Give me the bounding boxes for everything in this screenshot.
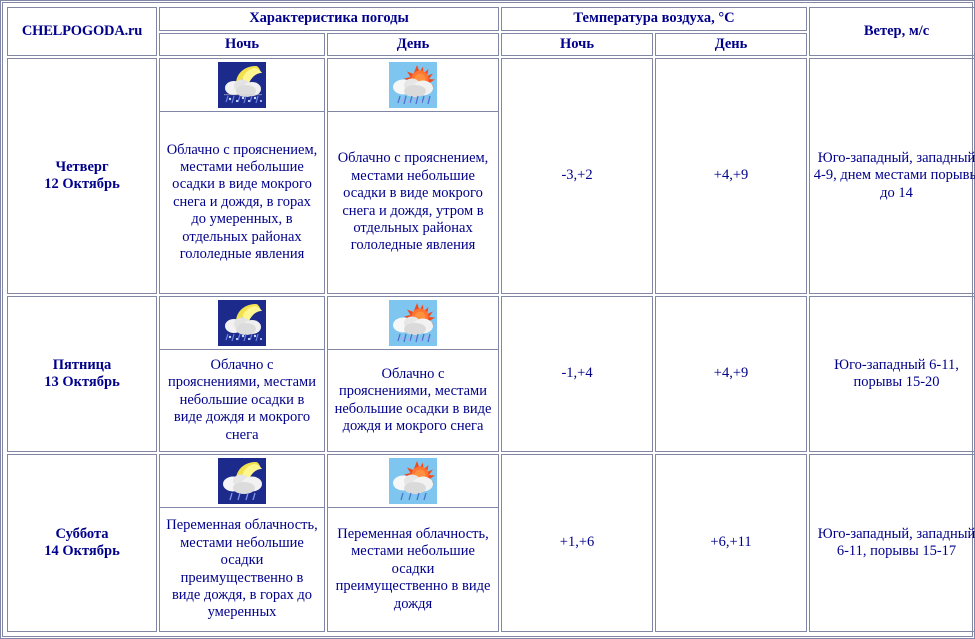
header-weather-day: День <box>327 33 499 57</box>
header-weather-night: Ночь <box>159 33 325 57</box>
header-temp-day: День <box>655 33 807 57</box>
temp-night-value: -3,+2 <box>501 58 653 294</box>
table-row: Четверг 12 Октябрь <box>7 58 975 294</box>
day-date: 12 Октябрь <box>44 176 120 192</box>
night-weather-icon-box <box>159 296 325 350</box>
day-label: Суббота 14 Октябрь <box>7 454 157 632</box>
night-cloudy-rain-icon <box>218 458 266 504</box>
day-weather-description: Облачно с прояснениями, местами небольши… <box>327 350 499 452</box>
day-name: Суббота <box>55 526 108 542</box>
night-weather-icon-box <box>159 454 325 508</box>
night-weather-cell: Облачно с прояснением, местами небольшие… <box>159 58 325 294</box>
header-wind: Ветер, м/с <box>809 7 975 56</box>
night-weather-description: Переменная облачность, местами небольшие… <box>159 508 325 632</box>
temp-day-value: +4,+9 <box>655 58 807 294</box>
day-weather-description: Облачно с прояснением, местами небольшие… <box>327 112 499 294</box>
day-sun-cloud-rain-icon <box>389 62 437 108</box>
table-row: Пятница 13 Октябрь <box>7 296 975 452</box>
table-row: Суббота 14 Октябрь <box>7 454 975 632</box>
day-weather-description: Переменная облачность, местами небольшие… <box>327 508 499 632</box>
night-weather-description: Облачно с прояснениями, местами небольши… <box>159 350 325 452</box>
day-label: Четверг 12 Октябрь <box>7 58 157 294</box>
night-weather-description: Облачно с прояснением, местами небольшие… <box>159 112 325 294</box>
header-temp-night: Ночь <box>501 33 653 57</box>
temp-night-value: +1,+6 <box>501 454 653 632</box>
day-weather-icon-box <box>327 58 499 112</box>
wind-value: Юго-западный, западный 4-9, днем местами… <box>809 58 975 294</box>
day-date: 13 Октябрь <box>44 374 120 390</box>
wind-value: Юго-западный, западный 6-11, порывы 15-1… <box>809 454 975 632</box>
site-logo[interactable]: CHELPOGODA.ru <box>7 7 157 56</box>
day-weather-cell: Переменная облачность, местами небольшие… <box>327 454 499 632</box>
day-name: Пятница <box>53 357 112 373</box>
header-weather-characteristics: Характеристика погоды <box>159 7 499 31</box>
night-cloudy-sleet-icon <box>218 300 266 346</box>
table-header-row-1: CHELPOGODA.ru Характеристика погоды Темп… <box>7 7 975 31</box>
night-weather-cell: Переменная облачность, местами небольшие… <box>159 454 325 632</box>
header-air-temperature: Температура воздуха, °C <box>501 7 807 31</box>
temp-night-value: -1,+4 <box>501 296 653 452</box>
day-name: Четверг <box>55 159 108 175</box>
day-sun-cloud-rain-icon <box>389 458 437 504</box>
day-weather-cell: Облачно с прояснением, местами небольшие… <box>327 58 499 294</box>
weather-forecast-table: CHELPOGODA.ru Характеристика погоды Темп… <box>5 5 975 634</box>
day-sun-cloud-rain-icon <box>389 300 437 346</box>
night-cloudy-sleet-icon <box>218 62 266 108</box>
day-label: Пятница 13 Октябрь <box>7 296 157 452</box>
wind-value: Юго-западный 6-11, порывы 15-20 <box>809 296 975 452</box>
temp-day-value: +6,+11 <box>655 454 807 632</box>
night-weather-icon-box <box>159 58 325 112</box>
day-weather-icon-box <box>327 454 499 508</box>
day-date: 14 Октябрь <box>44 543 120 559</box>
night-weather-cell: Облачно с прояснениями, местами небольши… <box>159 296 325 452</box>
weather-forecast-frame: CHELPOGODA.ru Характеристика погоды Темп… <box>0 0 975 639</box>
day-weather-icon-box <box>327 296 499 350</box>
temp-day-value: +4,+9 <box>655 296 807 452</box>
day-weather-cell: Облачно с прояснениями, местами небольши… <box>327 296 499 452</box>
